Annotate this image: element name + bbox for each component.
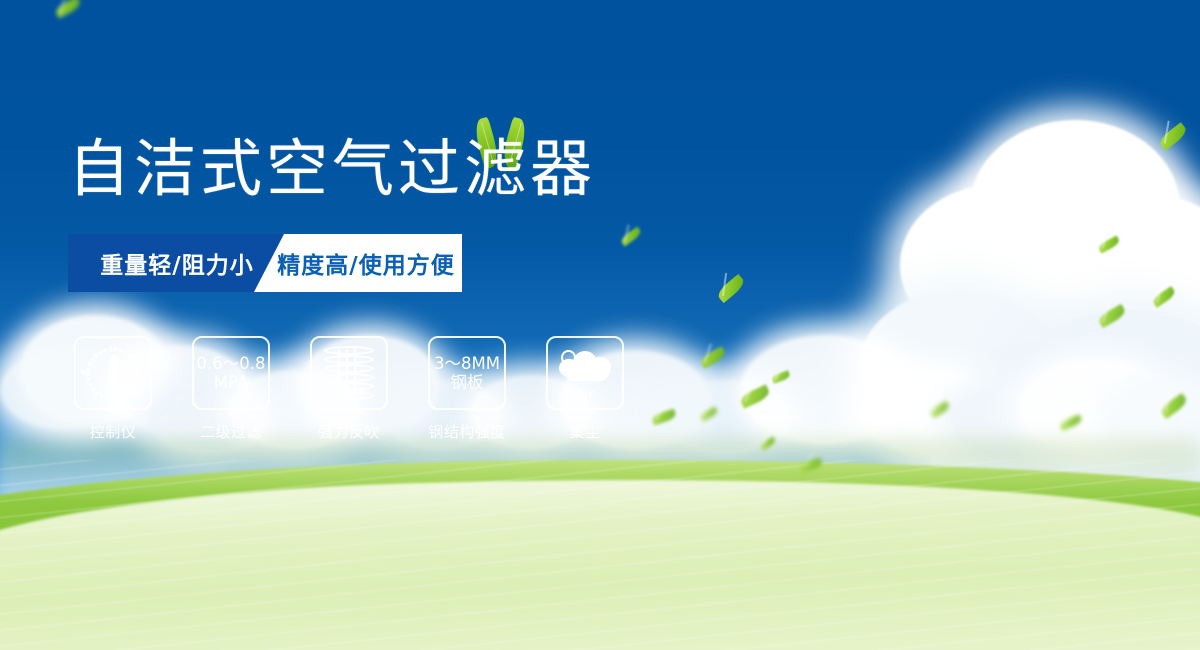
pressure-text-icon: 0.6～0.8 MPA (197, 354, 266, 393)
feature-label: 钢结构强度 (428, 421, 506, 442)
grass-texture (0, 460, 1200, 650)
feature-icon-box: 3～8MM 钢板 (428, 336, 506, 410)
feature-item[interactable]: NO OFF 控制仪 (72, 336, 154, 442)
subtitle-left-panel: 重量轻/阻力小 (68, 234, 286, 292)
subtitle-left-text: 重量轻/阻力小 (100, 246, 253, 280)
feature-label: 集尘 (569, 421, 600, 442)
steel-material: 钢板 (434, 373, 500, 392)
pressure-unit: MPA (197, 373, 266, 392)
feature-icon-box: Air (546, 336, 624, 410)
feature-item[interactable]: Air 集尘 (544, 336, 626, 442)
page-title: 自洁式空气过滤器 (68, 138, 596, 200)
feature-label: 二级过滤 (200, 421, 262, 442)
gauge-off-label: OFF (131, 392, 144, 398)
feature-item[interactable]: 0.6～0.8 MPA 二级过滤 (190, 336, 272, 442)
cloud-air-icon (557, 345, 613, 385)
feature-list: NO OFF 控制仪 0.6～0.8 MPA 二级过滤 强力反吹 (72, 336, 626, 442)
subtitle-right-panel: 精度高/使用方便 (254, 234, 462, 292)
gauge-icon: NO OFF (83, 344, 143, 402)
product-banner: 自洁式空气过滤器 重量轻/阻力小 精度高/使用方便 NO OFF 控制仪 (0, 0, 1200, 650)
filter-cartridge-icon (324, 346, 374, 400)
steel-thickness: 3～8MM (434, 354, 500, 373)
feature-icon-box (310, 336, 388, 410)
feature-item[interactable]: 强力反吹 (308, 336, 390, 442)
feature-label: 强力反吹 (318, 421, 380, 442)
subtitle-right-text: 精度高/使用方便 (261, 246, 454, 280)
feature-item[interactable]: 3～8MM 钢板 钢结构强度 (426, 336, 508, 442)
air-label: Air (576, 386, 595, 401)
steel-plate-text-icon: 3～8MM 钢板 (434, 354, 500, 393)
feature-label: 控制仪 (90, 421, 137, 442)
pressure-value: 0.6～0.8 (197, 354, 266, 373)
feature-icon-box: 0.6～0.8 MPA (192, 336, 270, 410)
feature-icon-box: NO OFF (74, 336, 152, 410)
